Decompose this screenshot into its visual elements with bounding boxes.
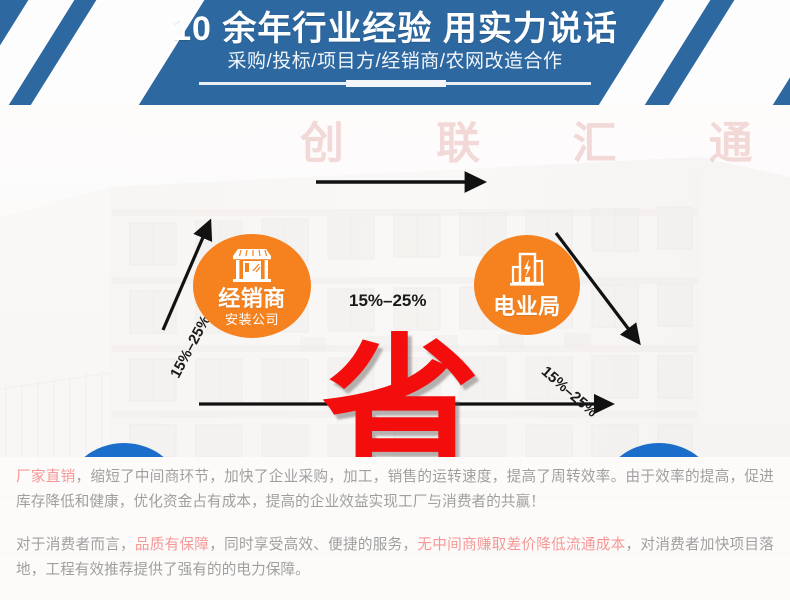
emphasis-character: 省 (322, 337, 480, 457)
banner-subtitle: 采购/投标/项目方/经销商/农网改造合作 (227, 49, 562, 75)
node-bureau[interactable]: 电业局 (474, 235, 580, 335)
node-dealer[interactable]: 经销商 安装公司 (193, 234, 311, 338)
banner-title: 10 余年行业经验 用实力说话 (172, 8, 618, 50)
storefront-icon (230, 246, 274, 286)
footer-highlight-1-0: 厂家直销 (16, 469, 75, 485)
node-bureau-label: 电业局 (493, 296, 561, 318)
footer-text-block: 厂家直销，缩短了中间商环节，加快了企业采购，加工，销售的运转速度，提高了周转效率… (0, 457, 790, 600)
footer-paragraph-2: 对于消费者而言，品质有保障，同时享受高效、便捷的服务，无中间商赚取差价降低流通成… (16, 533, 774, 583)
footer-run-2-0: 对于消费者而言， (16, 537, 135, 553)
footer-run-1-1: ，缩短了中间商环节，加快了企业采购，加工，销售的运转速度，提高了周转效率。由于效… (16, 469, 774, 510)
header-banner: 10 余年行业经验 用实力说话 采购/投标/项目方/经销商/农网改造合作 (0, 0, 790, 105)
footer-highlight-2-1: 品质有保障 (135, 537, 209, 553)
node-dealer-sublabel: 安装公司 (225, 313, 279, 326)
edge-label-dealer-to-bureau: 15%–25% (349, 291, 427, 311)
banner-divider (199, 80, 591, 87)
footer-run-2-2: ，同时享受高效、便捷的服务， (209, 537, 417, 553)
footer-paragraph-1: 厂家直销，缩短了中间商环节，加快了企业采购，加工，销售的运转速度，提高了周转效率… (16, 465, 774, 515)
banner-divider-thick (346, 80, 446, 87)
power-building-icon (507, 252, 547, 292)
node-dealer-label: 经销商 (218, 288, 286, 310)
diagram-stage: 创 联 汇 通 省 15%–25% 15%–25% 15%–25% 在这里省了中… (0, 105, 790, 457)
footer-highlight-2-3: 无中间商赚取差价降低流通成本 (417, 537, 625, 553)
